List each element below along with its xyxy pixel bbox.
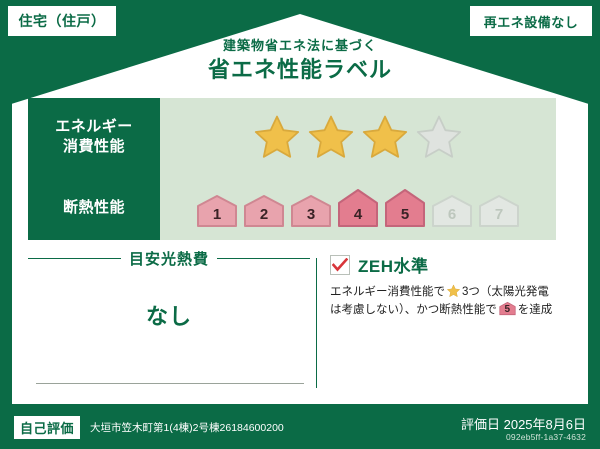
property-address: 大垣市笠木町第1(4棟)2号棟26184600200 [90,420,284,435]
page-main-title: 省エネ性能ラベル [0,56,600,84]
insulation-grade-5: 5 [383,188,427,228]
zeh-desc-part3: は考慮しない）、かつ断熱性能で [330,304,497,316]
evaluation-date: 評価日 2025年8月6日 [461,414,586,433]
self-evaluation-badge: 自己評価 [14,416,80,439]
evaluation-id: 092eb5ff-1a37-4632 [506,432,586,442]
insulation-grade-2: 2 [242,194,286,228]
inline-grade-value: 5 [499,303,516,316]
utility-cost-section: 目安光熱費 なし [28,248,310,400]
star-icon-inline [446,284,461,298]
utility-cost-heading: 目安光熱費 [28,248,310,269]
insulation-label-text: 断熱性能 [63,198,125,218]
vertical-divider [316,258,317,388]
insulation-grade-4: 4 [336,188,380,228]
tag-renewable-equipment: 再エネ設備なし [470,6,592,36]
zeh-section: ZEH水準 エネルギー消費性能で3つ（太陽光発電は考慮しない）、かつ断熱性能で5… [330,252,568,319]
house-icon [478,194,520,228]
house-icon [290,194,332,228]
star-icon-filled [360,113,410,161]
house-icon [337,188,379,228]
stars-container [252,113,464,161]
houses-container: 1234567 [195,188,521,228]
page-title: 建築物省エネ法に基づく 省エネ性能ラベル [0,38,600,84]
insulation-grade-7: 7 [477,194,521,228]
house-icon [243,194,285,228]
star-icon-empty [414,113,464,161]
check-icon [332,258,348,272]
performance-panel: エネルギー 消費性能 断熱性能 1234567 [28,98,556,240]
footer: 自己評価 大垣市笠木町第1(4棟)2号棟26184600200 評価日 2025… [0,404,600,449]
inline-grade-badge: 5 [499,301,516,316]
zeh-desc-part2: 3つ（太陽光発電 [462,286,549,298]
star-icon-filled [252,113,302,161]
utility-cost-title: 目安光熱費 [129,248,209,269]
rule-left [28,258,121,259]
zeh-desc-part1: エネルギー消費性能で [330,286,445,298]
zeh-title: ZEH水準 [358,252,429,277]
insulation-grade-1: 1 [195,194,239,228]
page-subtitle: 建築物省エネ法に基づく [0,38,600,54]
star-icon-filled [306,113,356,161]
energy-rating-stars [160,98,556,176]
zeh-desc-part4: を達成 [518,304,553,316]
insulation-grade-3: 3 [289,194,333,228]
energy-performance-label: 住宅（住戸） 再エネ設備なし 建築物省エネ法に基づく 省エネ性能ラベル エネルギ… [0,0,600,449]
insulation-grade-6: 6 [430,194,474,228]
house-icon [196,194,238,228]
tag-housing-type: 住宅（住戸） [8,6,116,36]
row-energy-consumption: エネルギー 消費性能 [28,98,556,176]
zeh-description: エネルギー消費性能で3つ（太陽光発電は考慮しない）、かつ断熱性能で5を達成 [330,284,568,319]
insulation-rating-scale: 1234567 [160,176,556,240]
house-icon [384,188,426,228]
utility-cost-value: なし [28,299,310,331]
zeh-checkbox[interactable] [330,255,350,275]
energy-label-line2: 消費性能 [63,137,125,157]
energy-consumption-label: エネルギー 消費性能 [28,98,160,176]
utility-cost-underline [36,383,304,384]
rule-right [217,258,310,259]
insulation-performance-label: 断熱性能 [28,176,160,240]
house-icon [431,194,473,228]
energy-label-line1: エネルギー [55,117,133,137]
zeh-heading: ZEH水準 [330,252,568,277]
row-insulation-performance: 断熱性能 1234567 [28,176,556,240]
